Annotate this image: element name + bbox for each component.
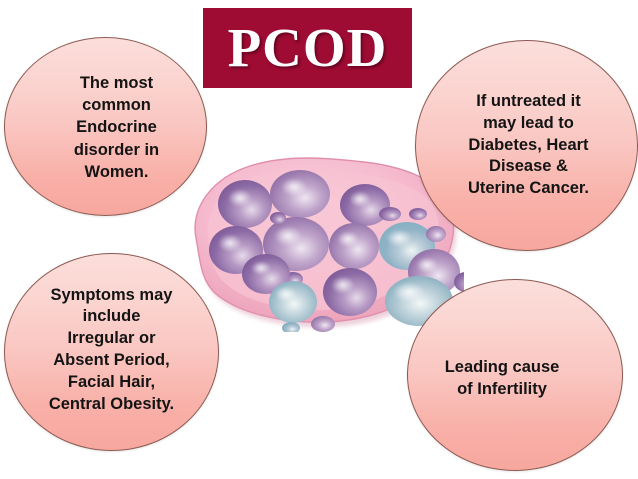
fact-bubble-infertility-text: Leading cause of Infertility xyxy=(439,356,566,400)
cyst-highlight xyxy=(251,261,271,275)
ovarian-cyst-small xyxy=(379,207,401,221)
cyst-highlight xyxy=(386,229,412,247)
cyst-highlight xyxy=(228,189,252,207)
fact-bubble-endocrine: The most common Endocrine disorder in Wo… xyxy=(4,37,207,216)
fact-bubble-symptoms-text: Symptoms may include Irregular or Absent… xyxy=(43,285,180,416)
fact-bubble-untreated-text: If untreated it may lead to Diabetes, He… xyxy=(462,91,595,200)
ovarian-cyst xyxy=(269,281,317,323)
cyst-highlight xyxy=(393,282,425,302)
ovarian-cyst xyxy=(329,223,379,269)
cyst-highlight xyxy=(349,191,371,207)
cyst-highlight xyxy=(331,276,355,294)
cyst-highlight xyxy=(275,286,297,302)
cyst-highlight xyxy=(416,257,438,273)
ovarian-cyst-small xyxy=(270,212,286,224)
ovarian-cyst-small xyxy=(409,208,427,220)
cyst-highlight xyxy=(218,234,242,252)
cyst-highlight xyxy=(337,231,359,247)
cyst-highlight xyxy=(274,226,302,246)
fact-bubble-symptoms: Symptoms may include Irregular or Absent… xyxy=(4,253,219,451)
fact-bubble-endocrine-text: The most common Endocrine disorder in Wo… xyxy=(68,72,165,183)
page-title: PCOD xyxy=(228,20,388,75)
fact-bubble-infertility: Leading cause of Infertility xyxy=(407,279,623,471)
ovarian-cyst-small xyxy=(311,316,335,332)
infographic-canvas: PCOD The most common Endocrine disorder … xyxy=(0,0,638,479)
ovarian-cyst-small xyxy=(426,226,446,242)
cyst-highlight xyxy=(281,178,307,196)
fact-bubble-untreated: If untreated it may lead to Diabetes, He… xyxy=(415,40,638,251)
title-banner: PCOD xyxy=(203,8,412,88)
